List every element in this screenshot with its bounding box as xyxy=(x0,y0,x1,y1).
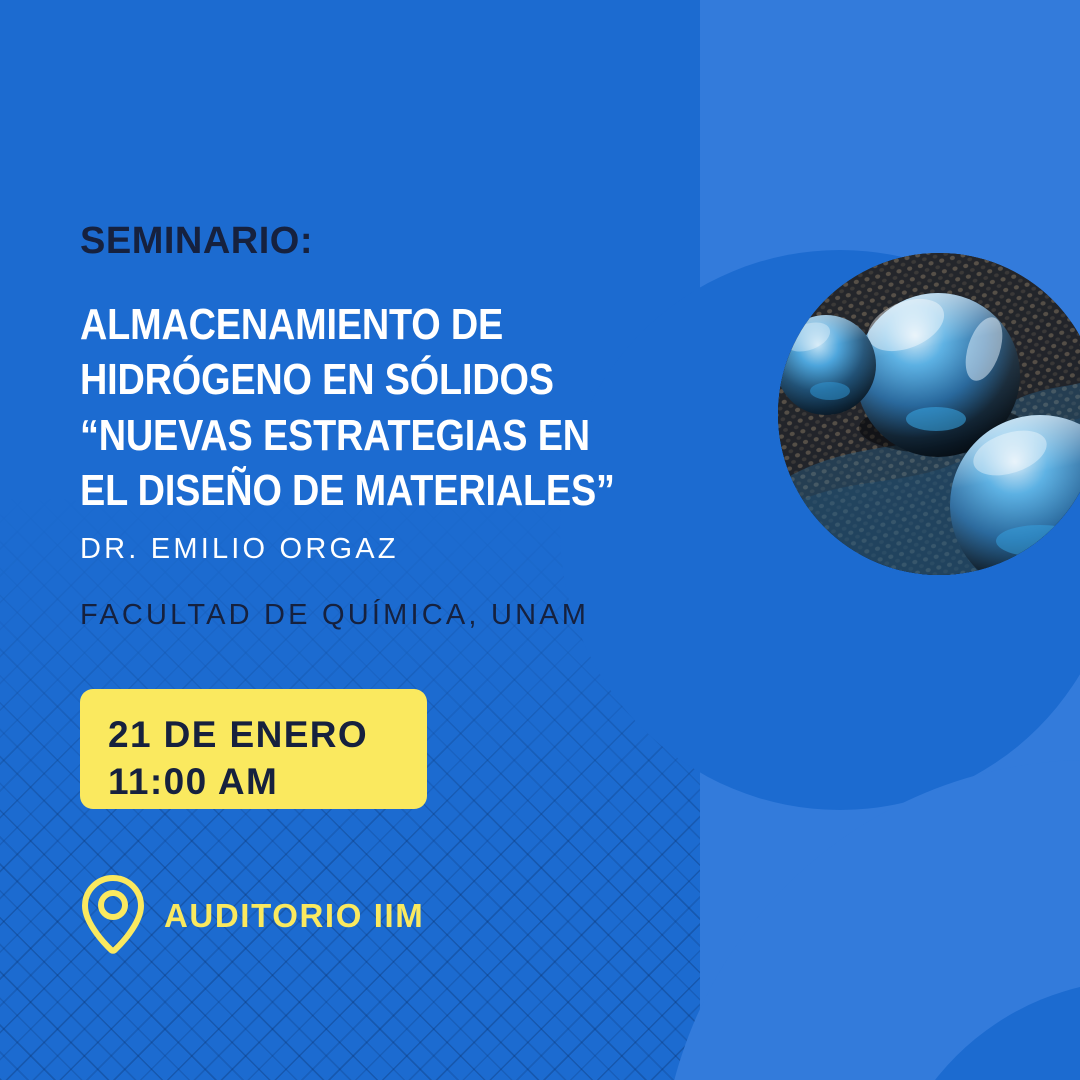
speaker-affiliation: FACULTAD DE QUÍMICA, UNAM xyxy=(80,601,589,630)
event-poster: SEMINARIO: ALMACENAMIENTO DE HIDRÓGENO E… xyxy=(0,0,1080,1080)
speaker-name: DR. EMILIO ORGAZ xyxy=(80,535,399,564)
event-date: 21 DE ENERO xyxy=(108,711,427,758)
venue-row: AUDITORIO IIM xyxy=(80,873,424,955)
date-time-badge: 21 DE ENERO 11:00 AM xyxy=(80,689,427,809)
seminar-title: ALMACENAMIENTO DE HIDRÓGENO EN SÓLIDOS “… xyxy=(80,297,630,519)
event-time: 11:00 AM xyxy=(108,758,427,805)
venue-name: AUDITORIO IIM xyxy=(164,897,424,932)
hero-circular-image xyxy=(778,253,1080,575)
poster-content: SEMINARIO: ALMACENAMIENTO DE HIDRÓGENO E… xyxy=(80,0,730,1080)
seminar-eyebrow-label: SEMINARIO: xyxy=(80,222,313,260)
map-pin-icon xyxy=(80,873,146,955)
